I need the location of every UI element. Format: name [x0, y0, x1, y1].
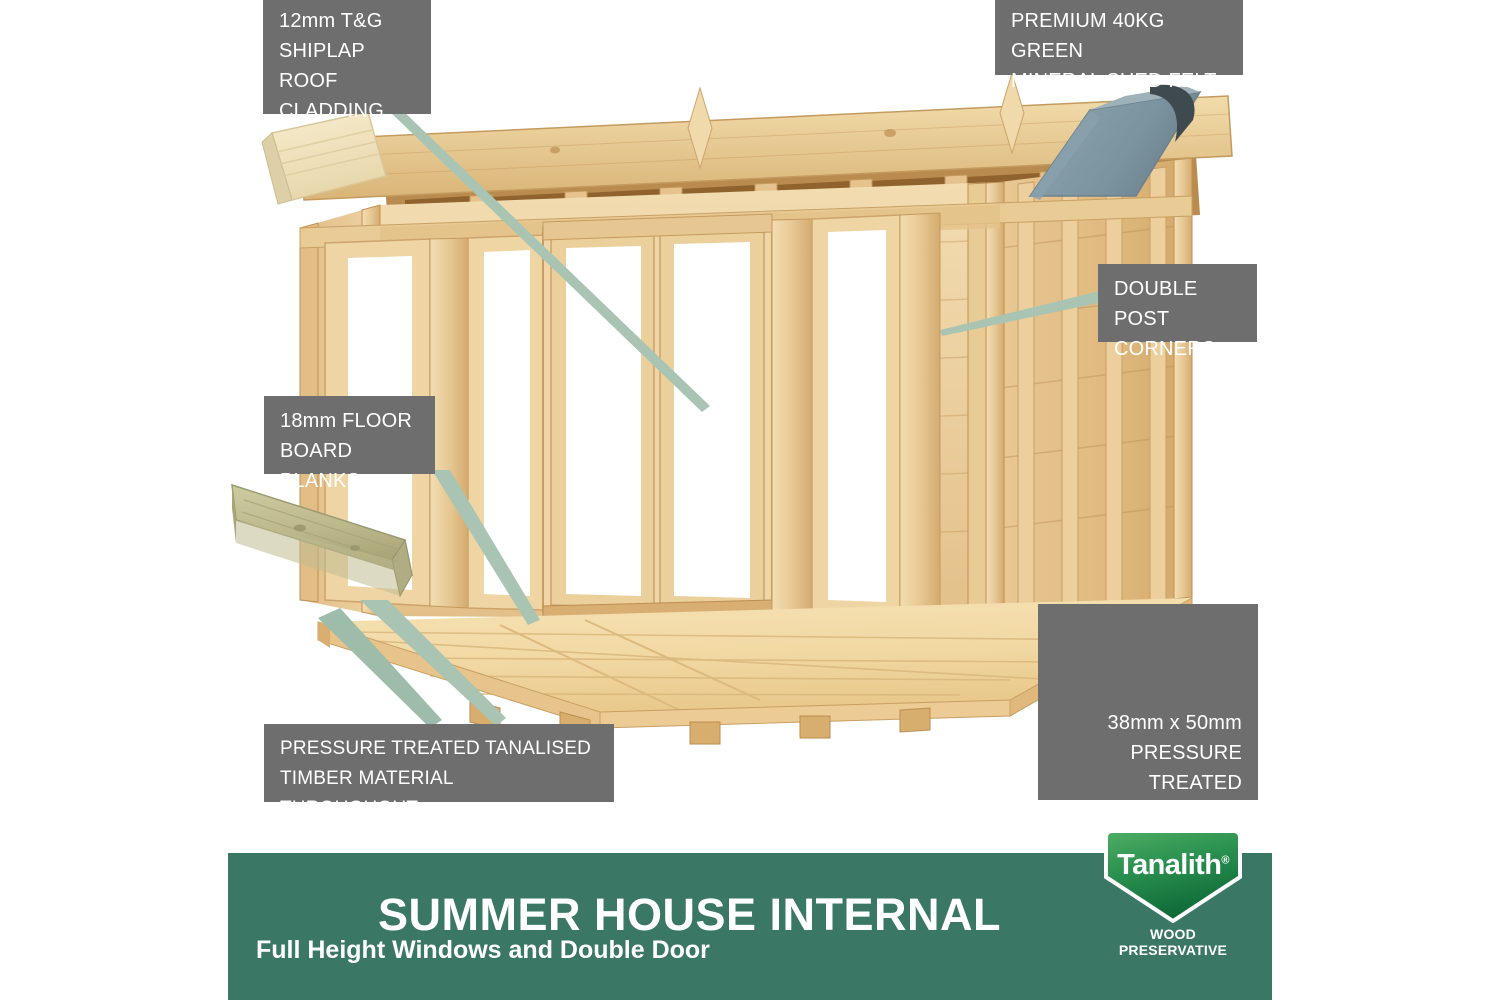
- leader-line-double-post: [940, 270, 1120, 340]
- callout-floor-board-planks: 18mm FLOOR BOARD PLANKS: [264, 396, 435, 474]
- callout-pressure-treated-timber: PRESSURE TREATED TANALISED TIMBER MATERI…: [264, 724, 614, 802]
- tanalith-logo: Tanalith® WOOD PRESERVATIVE: [1102, 827, 1244, 952]
- callout-roof-cladding: 12mm T&G SHIPLAP ROOF CLADDING: [263, 0, 431, 114]
- leader-line-pressure-treated: [310, 600, 550, 740]
- registered-mark-icon: ®: [1221, 854, 1229, 866]
- tanalith-tagline: WOOD PRESERVATIVE: [1102, 926, 1244, 958]
- tanalith-wordmark: Tanalith®: [1102, 849, 1244, 882]
- tanalith-word-text: Tanalith: [1117, 849, 1221, 881]
- summer-house-render: [0, 0, 1500, 1000]
- callout-framing: 38mm x 50mm PRESSURE TREATED FRAMING: [1038, 604, 1258, 800]
- page-subtitle: Full Height Windows and Double Door: [256, 936, 710, 965]
- product-illustration: 12mm T&G SHIPLAP ROOF CLADDING PREMIUM 4…: [0, 0, 1500, 1000]
- callout-double-post-corners: DOUBLE POST CORNERS: [1098, 264, 1257, 342]
- leader-line-roof-cladding: [380, 100, 720, 420]
- product-banner: SUMMER HOUSE INTERNAL Full Height Window…: [228, 853, 1272, 1000]
- callout-shed-felt: PREMIUM 40KG GREEN MINERAL SHED FELT: [995, 0, 1243, 75]
- page-title: SUMMER HOUSE INTERNAL: [378, 889, 1001, 941]
